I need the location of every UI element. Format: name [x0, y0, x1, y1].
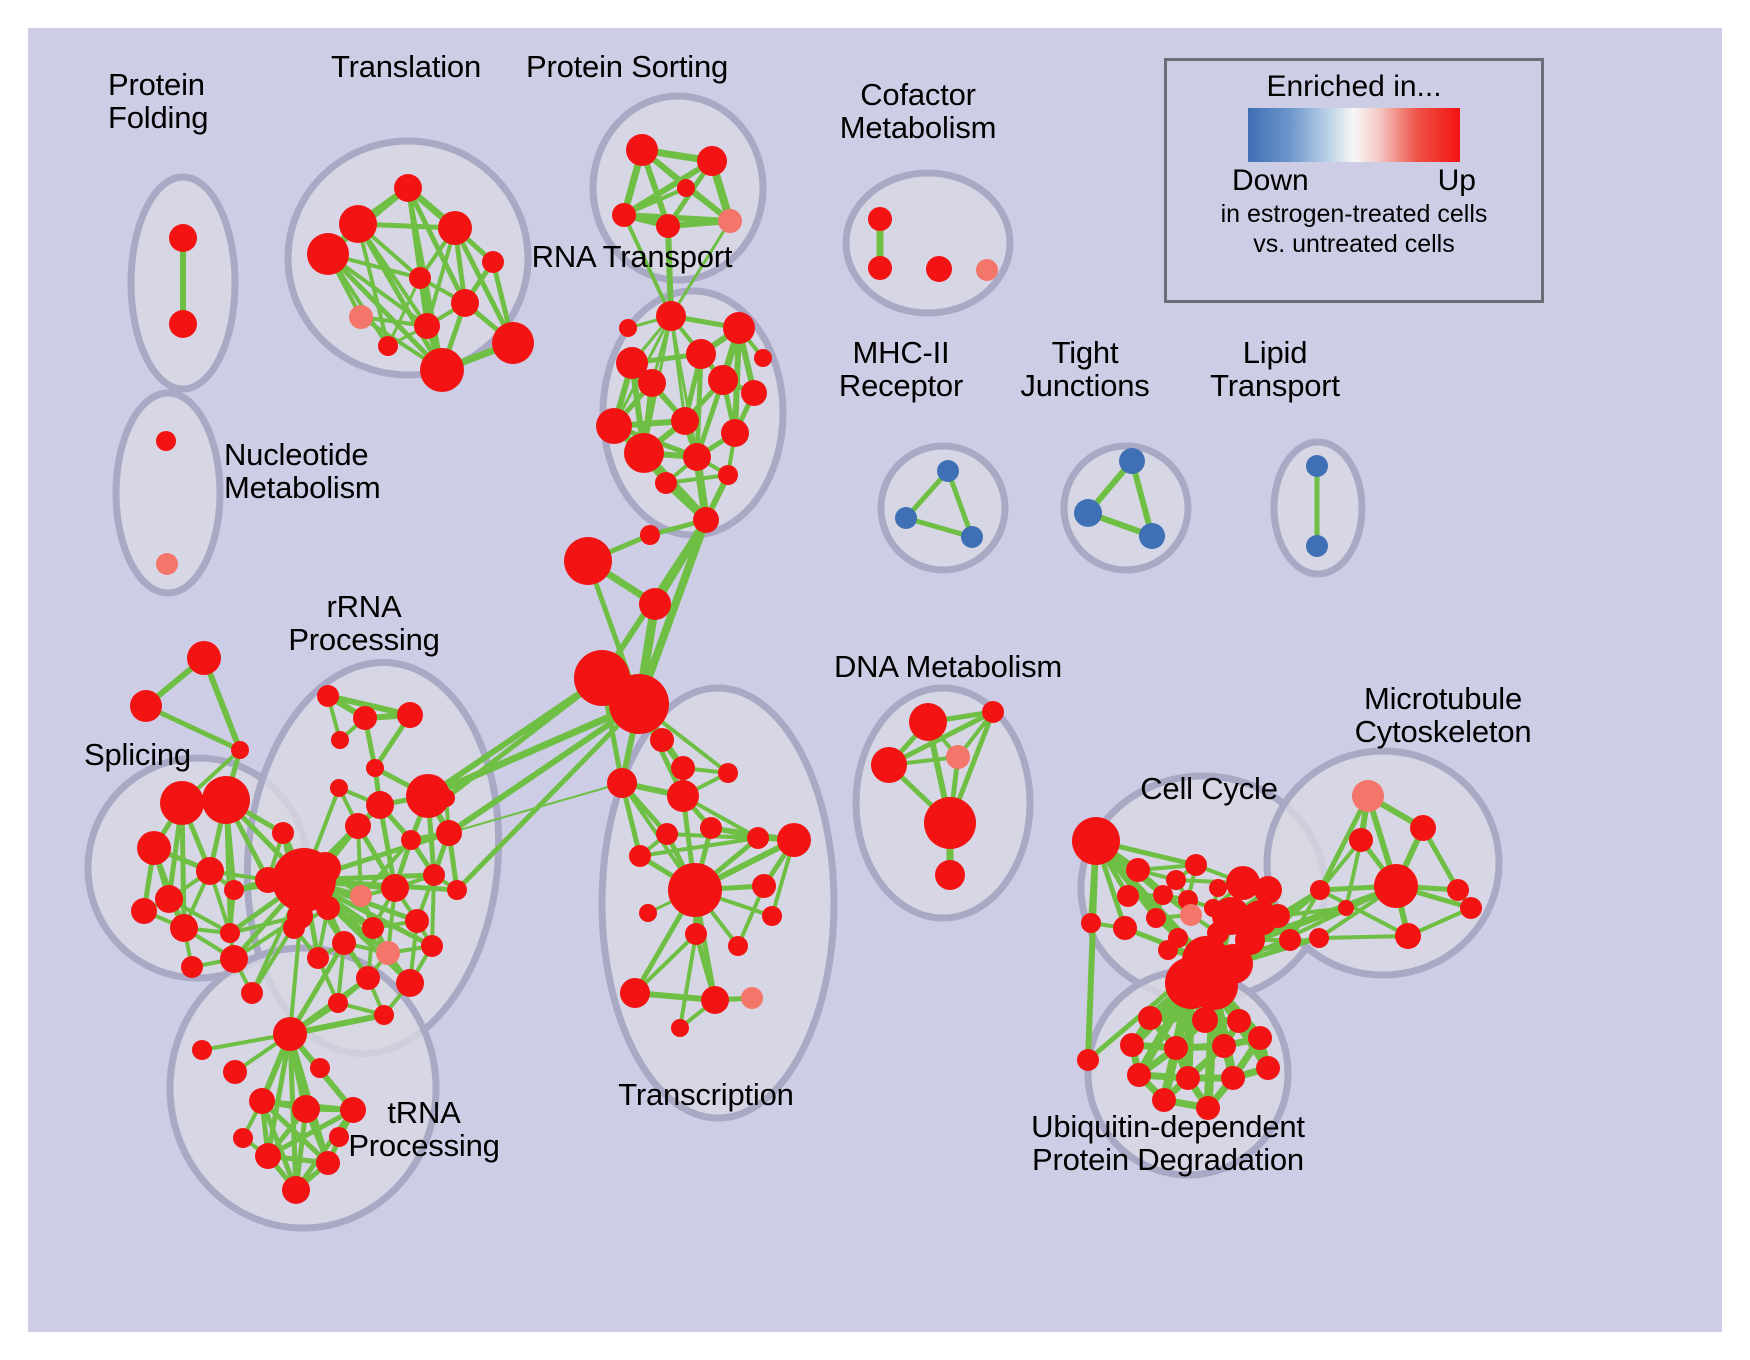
cluster-label-tight-junctions: Tight Junctions [990, 336, 1180, 403]
network-node[interactable] [292, 1095, 320, 1123]
network-node[interactable] [596, 408, 632, 444]
network-node[interactable] [752, 874, 776, 898]
network-node[interactable] [718, 763, 738, 783]
network-node[interactable] [192, 1040, 212, 1060]
network-node[interactable] [1119, 448, 1145, 474]
network-node[interactable] [241, 982, 263, 1004]
network-node[interactable] [638, 369, 666, 397]
network-node[interactable] [366, 759, 384, 777]
network-node[interactable] [492, 322, 534, 364]
network-node[interactable] [1227, 1009, 1251, 1033]
network-node[interactable] [686, 339, 716, 369]
network-node[interactable] [1310, 880, 1330, 900]
network-node[interactable] [1306, 455, 1328, 477]
network-node[interactable] [310, 1058, 330, 1078]
network-node[interactable] [317, 685, 339, 707]
network-node[interactable] [1338, 900, 1354, 916]
network-node[interactable] [332, 931, 356, 955]
network-node[interactable] [655, 472, 677, 494]
network-node[interactable] [1374, 864, 1418, 908]
network-node[interactable] [741, 380, 767, 406]
network-node[interactable] [671, 1019, 689, 1037]
legend-gradient-bar [1248, 108, 1460, 162]
cluster-label-nucleotide-metabolism: Nucleotide Metabolism [224, 438, 454, 505]
network-node[interactable] [741, 987, 763, 1009]
network-node[interactable] [220, 923, 240, 943]
network-node[interactable] [307, 947, 329, 969]
network-node[interactable] [723, 312, 755, 344]
network-node[interactable] [620, 978, 650, 1008]
network-node[interactable] [639, 904, 657, 922]
network-node[interactable] [224, 880, 244, 900]
network-node[interactable] [961, 526, 983, 548]
network-node[interactable] [233, 1128, 253, 1148]
network-node[interactable] [683, 443, 711, 471]
network-node[interactable] [345, 813, 371, 839]
network-node[interactable] [353, 706, 377, 730]
network-node[interactable] [328, 993, 348, 1013]
network-node[interactable] [155, 885, 183, 913]
network-node[interactable] [482, 251, 504, 273]
network-node[interactable] [1126, 858, 1150, 882]
network-node[interactable] [609, 674, 669, 734]
network-node[interactable] [718, 209, 742, 233]
network-node[interactable] [1158, 940, 1178, 960]
network-node[interactable] [169, 310, 197, 338]
cluster-label-translation: Translation [296, 50, 516, 83]
network-node[interactable] [396, 969, 424, 997]
cluster-label-lipid-transport: Lipid Transport [1180, 336, 1370, 403]
network-node[interactable] [937, 460, 959, 482]
network-node[interactable] [223, 1060, 247, 1084]
network-node[interactable] [349, 305, 373, 329]
cluster-label-transcription: Transcription [586, 1078, 826, 1111]
network-node[interactable] [437, 789, 455, 807]
network-node[interactable] [926, 256, 952, 282]
network-node[interactable] [376, 941, 400, 965]
cluster-label-ubiquitin-degradation: Ubiquitin-dependent Protein Degradation [988, 1110, 1348, 1177]
network-node[interactable] [976, 259, 998, 281]
network-node[interactable] [196, 857, 224, 885]
network-node[interactable] [1113, 916, 1137, 940]
network-node[interactable] [1212, 1034, 1236, 1058]
network-node[interactable] [1185, 854, 1207, 876]
network-node[interactable] [438, 211, 472, 245]
network-node[interactable] [272, 822, 294, 844]
network-node[interactable] [1460, 897, 1482, 919]
network-node[interactable] [747, 827, 769, 849]
network-node[interactable] [629, 845, 651, 867]
network-node[interactable] [1395, 923, 1421, 949]
network-node[interactable] [1190, 962, 1238, 1010]
network-node[interactable] [436, 820, 462, 846]
legend-subtitle-line1: in estrogen-treated cells [1221, 200, 1488, 228]
network-edge [1319, 936, 1408, 938]
legend-endpoints: Down Up [1232, 164, 1476, 198]
network-node[interactable] [420, 348, 464, 392]
network-node[interactable] [1176, 1066, 1200, 1090]
cluster-label-microtubule-cytoskeleton: Microtubule Cytoskeleton [1318, 682, 1568, 749]
network-node[interactable] [656, 823, 678, 845]
network-node[interactable] [640, 525, 660, 545]
network-node[interactable] [721, 419, 749, 447]
network-node[interactable] [330, 779, 348, 797]
network-node[interactable] [307, 233, 349, 275]
network-node[interactable] [871, 747, 907, 783]
network-node[interactable] [273, 1017, 307, 1051]
network-node[interactable] [1180, 904, 1202, 926]
network-node[interactable] [639, 588, 671, 620]
network-node[interactable] [1077, 1049, 1099, 1071]
network-node[interactable] [421, 935, 443, 957]
legend-high-label: Up [1438, 164, 1476, 198]
network-node[interactable] [401, 830, 421, 850]
network-node[interactable] [718, 465, 738, 485]
network-node[interactable] [397, 702, 423, 728]
network-node[interactable] [656, 214, 680, 238]
network-node[interactable] [1120, 1033, 1144, 1057]
network-node[interactable] [156, 431, 176, 451]
network-node[interactable] [1254, 876, 1282, 904]
network-node[interactable] [414, 313, 440, 339]
network-node[interactable] [693, 507, 719, 533]
network-node[interactable] [366, 791, 394, 819]
network-node[interactable] [1209, 879, 1227, 897]
network-node[interactable] [1279, 929, 1301, 951]
cluster-hull-cofactor-metabolism [846, 173, 1010, 313]
network-node[interactable] [671, 407, 699, 435]
cluster-label-cell-cycle: Cell Cycle [1104, 772, 1314, 805]
network-node[interactable] [624, 433, 664, 473]
legend-box: Enriched in... Down Up in estrogen-treat… [1164, 58, 1544, 303]
network-node[interactable] [1164, 1036, 1188, 1060]
network-node[interactable] [895, 507, 917, 529]
network-node[interactable] [447, 880, 467, 900]
network-node[interactable] [1139, 523, 1165, 549]
network-node[interactable] [1117, 885, 1139, 907]
cluster-label-splicing: Splicing [84, 738, 244, 771]
network-node[interactable] [249, 1088, 275, 1114]
network-node[interactable] [701, 986, 729, 1014]
network-node[interactable] [868, 207, 892, 231]
network-node[interactable] [1410, 815, 1436, 841]
network-node[interactable] [1081, 913, 1101, 933]
network-node[interactable] [607, 768, 637, 798]
figure-stage: Protein FoldingTranslationProtein Sortin… [0, 0, 1750, 1360]
network-node[interactable] [935, 860, 965, 890]
network-node[interactable] [1256, 1056, 1280, 1080]
network-node[interactable] [754, 349, 772, 367]
network-node[interactable] [1127, 1063, 1151, 1087]
network-node[interactable] [409, 267, 431, 289]
network-node[interactable] [1248, 1026, 1272, 1050]
network-node[interactable] [255, 1143, 281, 1169]
network-node[interactable] [564, 537, 612, 585]
network-node[interactable] [378, 336, 398, 356]
network-node[interactable] [169, 224, 197, 252]
cluster-label-mhc-ii-receptor: MHC-II Receptor [806, 336, 996, 403]
network-node[interactable] [1146, 908, 1166, 928]
network-node[interactable] [626, 134, 658, 166]
network-node[interactable] [762, 906, 782, 926]
cluster-label-protein-sorting: Protein Sorting [502, 50, 752, 83]
network-node[interactable] [677, 179, 695, 197]
network-node[interactable] [451, 289, 479, 317]
network-node[interactable] [160, 781, 204, 825]
network-node[interactable] [423, 864, 445, 886]
network-node[interactable] [362, 917, 384, 939]
network-node[interactable] [777, 823, 811, 857]
network-node[interactable] [909, 703, 947, 741]
network-node[interactable] [283, 917, 305, 939]
network-node[interactable] [650, 728, 674, 752]
network-node[interactable] [339, 205, 377, 243]
network-node[interactable] [405, 909, 429, 933]
network-node[interactable] [685, 923, 707, 945]
network-node[interactable] [1349, 828, 1373, 852]
network-node[interactable] [924, 797, 976, 849]
network-node[interactable] [1072, 817, 1120, 865]
network-node[interactable] [946, 745, 970, 769]
network-node[interactable] [667, 780, 699, 812]
network-node[interactable] [331, 731, 349, 749]
network-node[interactable] [1266, 904, 1290, 928]
network-node[interactable] [656, 301, 686, 331]
network-node[interactable] [181, 956, 203, 978]
network-node[interactable] [1447, 879, 1469, 901]
network-node[interactable] [374, 1005, 394, 1025]
network-node[interactable] [1153, 885, 1173, 905]
network-node[interactable] [1352, 780, 1384, 812]
network-node[interactable] [1192, 1007, 1218, 1033]
cluster-label-dna-metabolism: DNA Metabolism [818, 650, 1078, 683]
network-node[interactable] [170, 914, 198, 942]
network-node[interactable] [381, 874, 409, 902]
network-node[interactable] [700, 817, 722, 839]
network-node[interactable] [220, 945, 248, 973]
network-node[interactable] [708, 365, 738, 395]
network-node[interactable] [350, 885, 372, 907]
network-node[interactable] [1074, 499, 1102, 527]
cluster-label-cofactor-metabolism: Cofactor Metabolism [808, 78, 1028, 145]
network-node[interactable] [356, 966, 380, 990]
network-node[interactable] [1221, 1066, 1245, 1090]
network-node[interactable] [130, 690, 162, 722]
network-node[interactable] [668, 863, 722, 917]
network-node[interactable] [156, 553, 178, 575]
network-node[interactable] [187, 641, 221, 675]
legend-subtitle-line2: vs. untreated cells [1253, 230, 1455, 258]
network-node[interactable] [316, 896, 340, 920]
network-node[interactable] [671, 756, 695, 780]
cluster-label-rrna-processing: rRNA Processing [264, 590, 464, 657]
legend-title: Enriched in... [1266, 70, 1441, 104]
network-node[interactable] [612, 203, 636, 227]
network-node[interactable] [1306, 535, 1328, 557]
cluster-label-trna-processing: tRNA Processing [324, 1096, 524, 1163]
network-node[interactable] [131, 898, 157, 924]
network-node[interactable] [982, 701, 1004, 723]
network-node[interactable] [202, 776, 250, 824]
cluster-label-protein-folding: Protein Folding [108, 68, 288, 135]
legend-low-label: Down [1232, 164, 1309, 198]
cluster-label-rna-transport: RNA Transport [512, 240, 752, 273]
network-node[interactable] [1138, 1006, 1162, 1030]
network-node[interactable] [394, 174, 422, 202]
network-node[interactable] [282, 1176, 310, 1204]
network-node[interactable] [1309, 928, 1329, 948]
network-node[interactable] [728, 936, 748, 956]
network-node[interactable] [697, 146, 727, 176]
network-node[interactable] [137, 831, 171, 865]
network-node[interactable] [868, 256, 892, 280]
network-canvas: Protein FoldingTranslationProtein Sortin… [28, 28, 1722, 1332]
network-node[interactable] [619, 319, 637, 337]
